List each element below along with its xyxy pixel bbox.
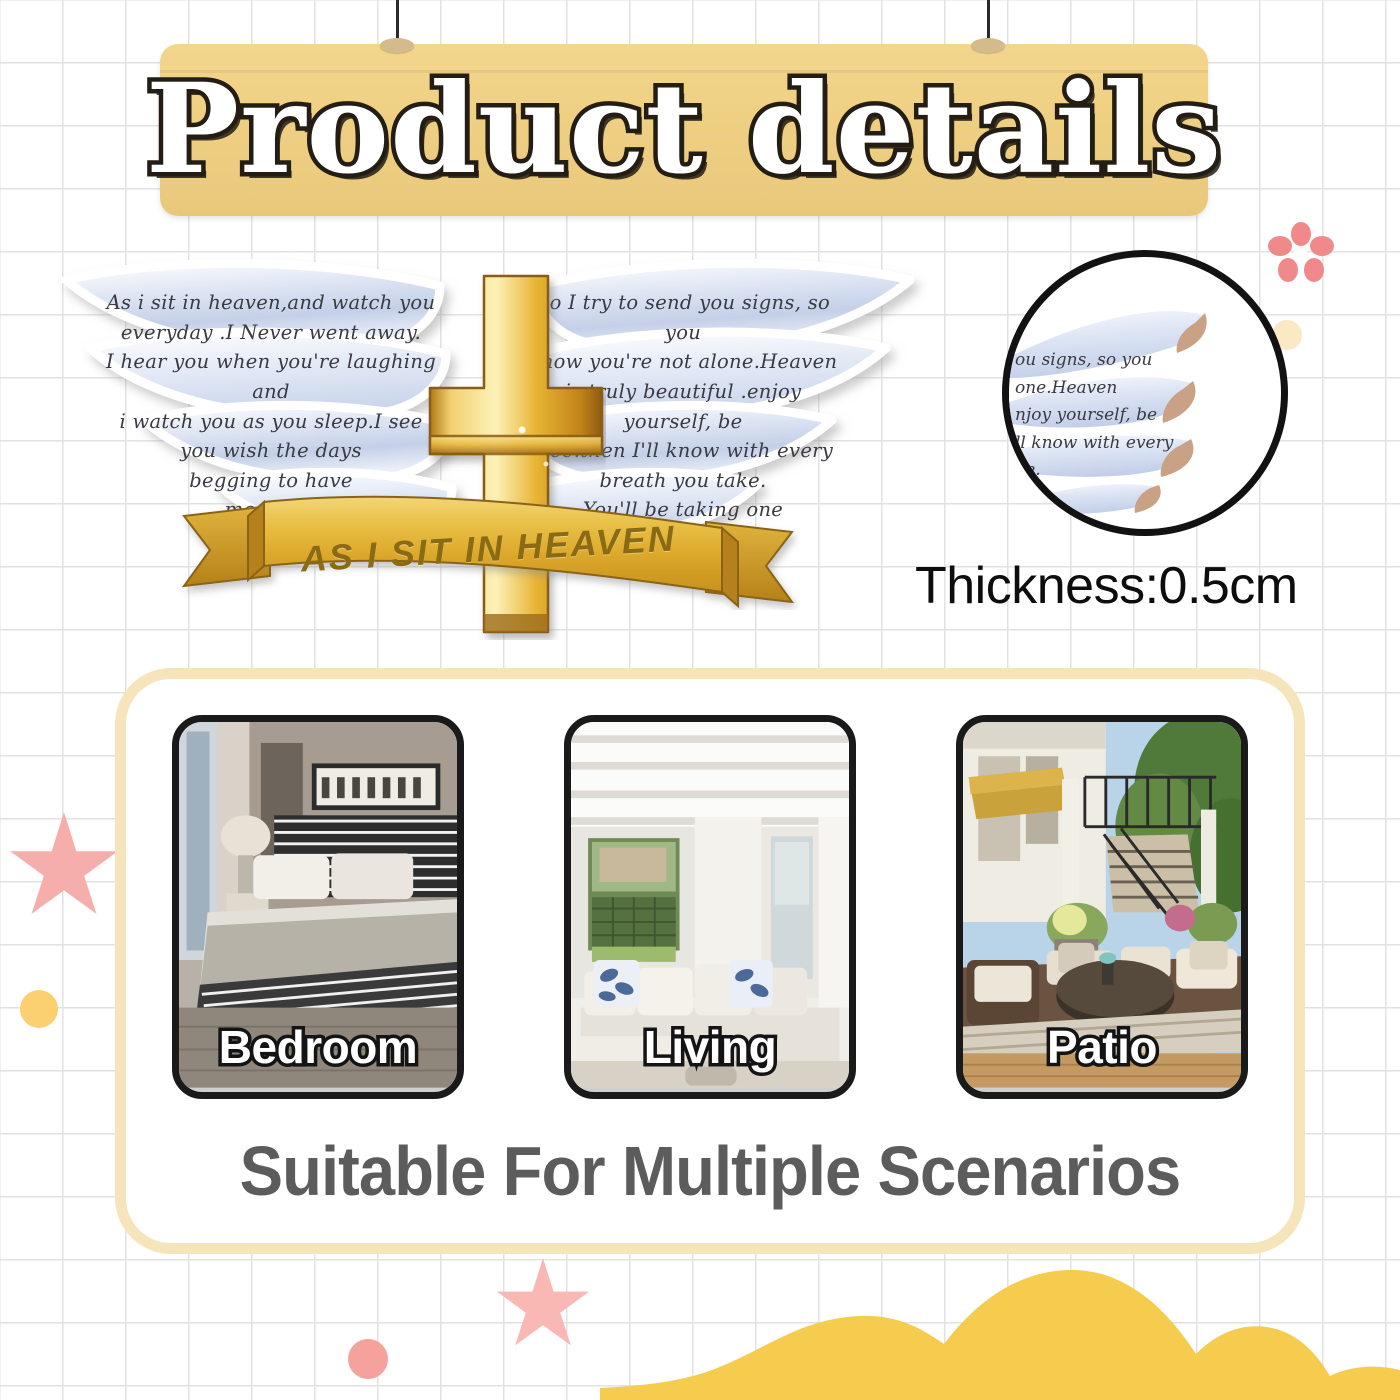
scenario-card-patio[interactable]: Patio: [956, 715, 1248, 1099]
page-title: Product details: [146, 68, 1222, 192]
banner-pin-right: [971, 38, 1005, 53]
scenario-label-bedroom: Bedroom: [179, 1020, 457, 1074]
zoom-circle-text: ou signs, so you one.Heaven njoy yoursel…: [1015, 347, 1195, 536]
scenario-label-living: Living: [571, 1020, 849, 1074]
product-artwork: As i sit in heaven,and watch you everyda…: [48, 240, 928, 640]
page-title-banner: Product details: [160, 44, 1208, 216]
product-ribbon: AS I SIT IN HEAVEN: [178, 480, 798, 610]
scenarios-card: Bedroom: [115, 668, 1305, 1254]
scenario-label-patio: Patio: [963, 1020, 1241, 1074]
scenarios-row: Bedroom: [126, 715, 1294, 1099]
banner-pin-left: [380, 38, 414, 53]
cloud-decoration-bottom: [0, 1270, 1400, 1400]
dot-decoration-left-yellow: [20, 990, 58, 1028]
thickness-zoom-circle: ou signs, so you one.Heaven njoy yoursel…: [1002, 250, 1288, 536]
star-decoration-left: [8, 812, 120, 924]
scenario-card-living[interactable]: Living: [564, 715, 856, 1099]
scenarios-heading: Suitable For Multiple Scenarios: [167, 1131, 1253, 1211]
thickness-label: Thickness:0.5cm: [915, 556, 1375, 616]
scenario-card-bedroom[interactable]: Bedroom: [172, 715, 464, 1099]
